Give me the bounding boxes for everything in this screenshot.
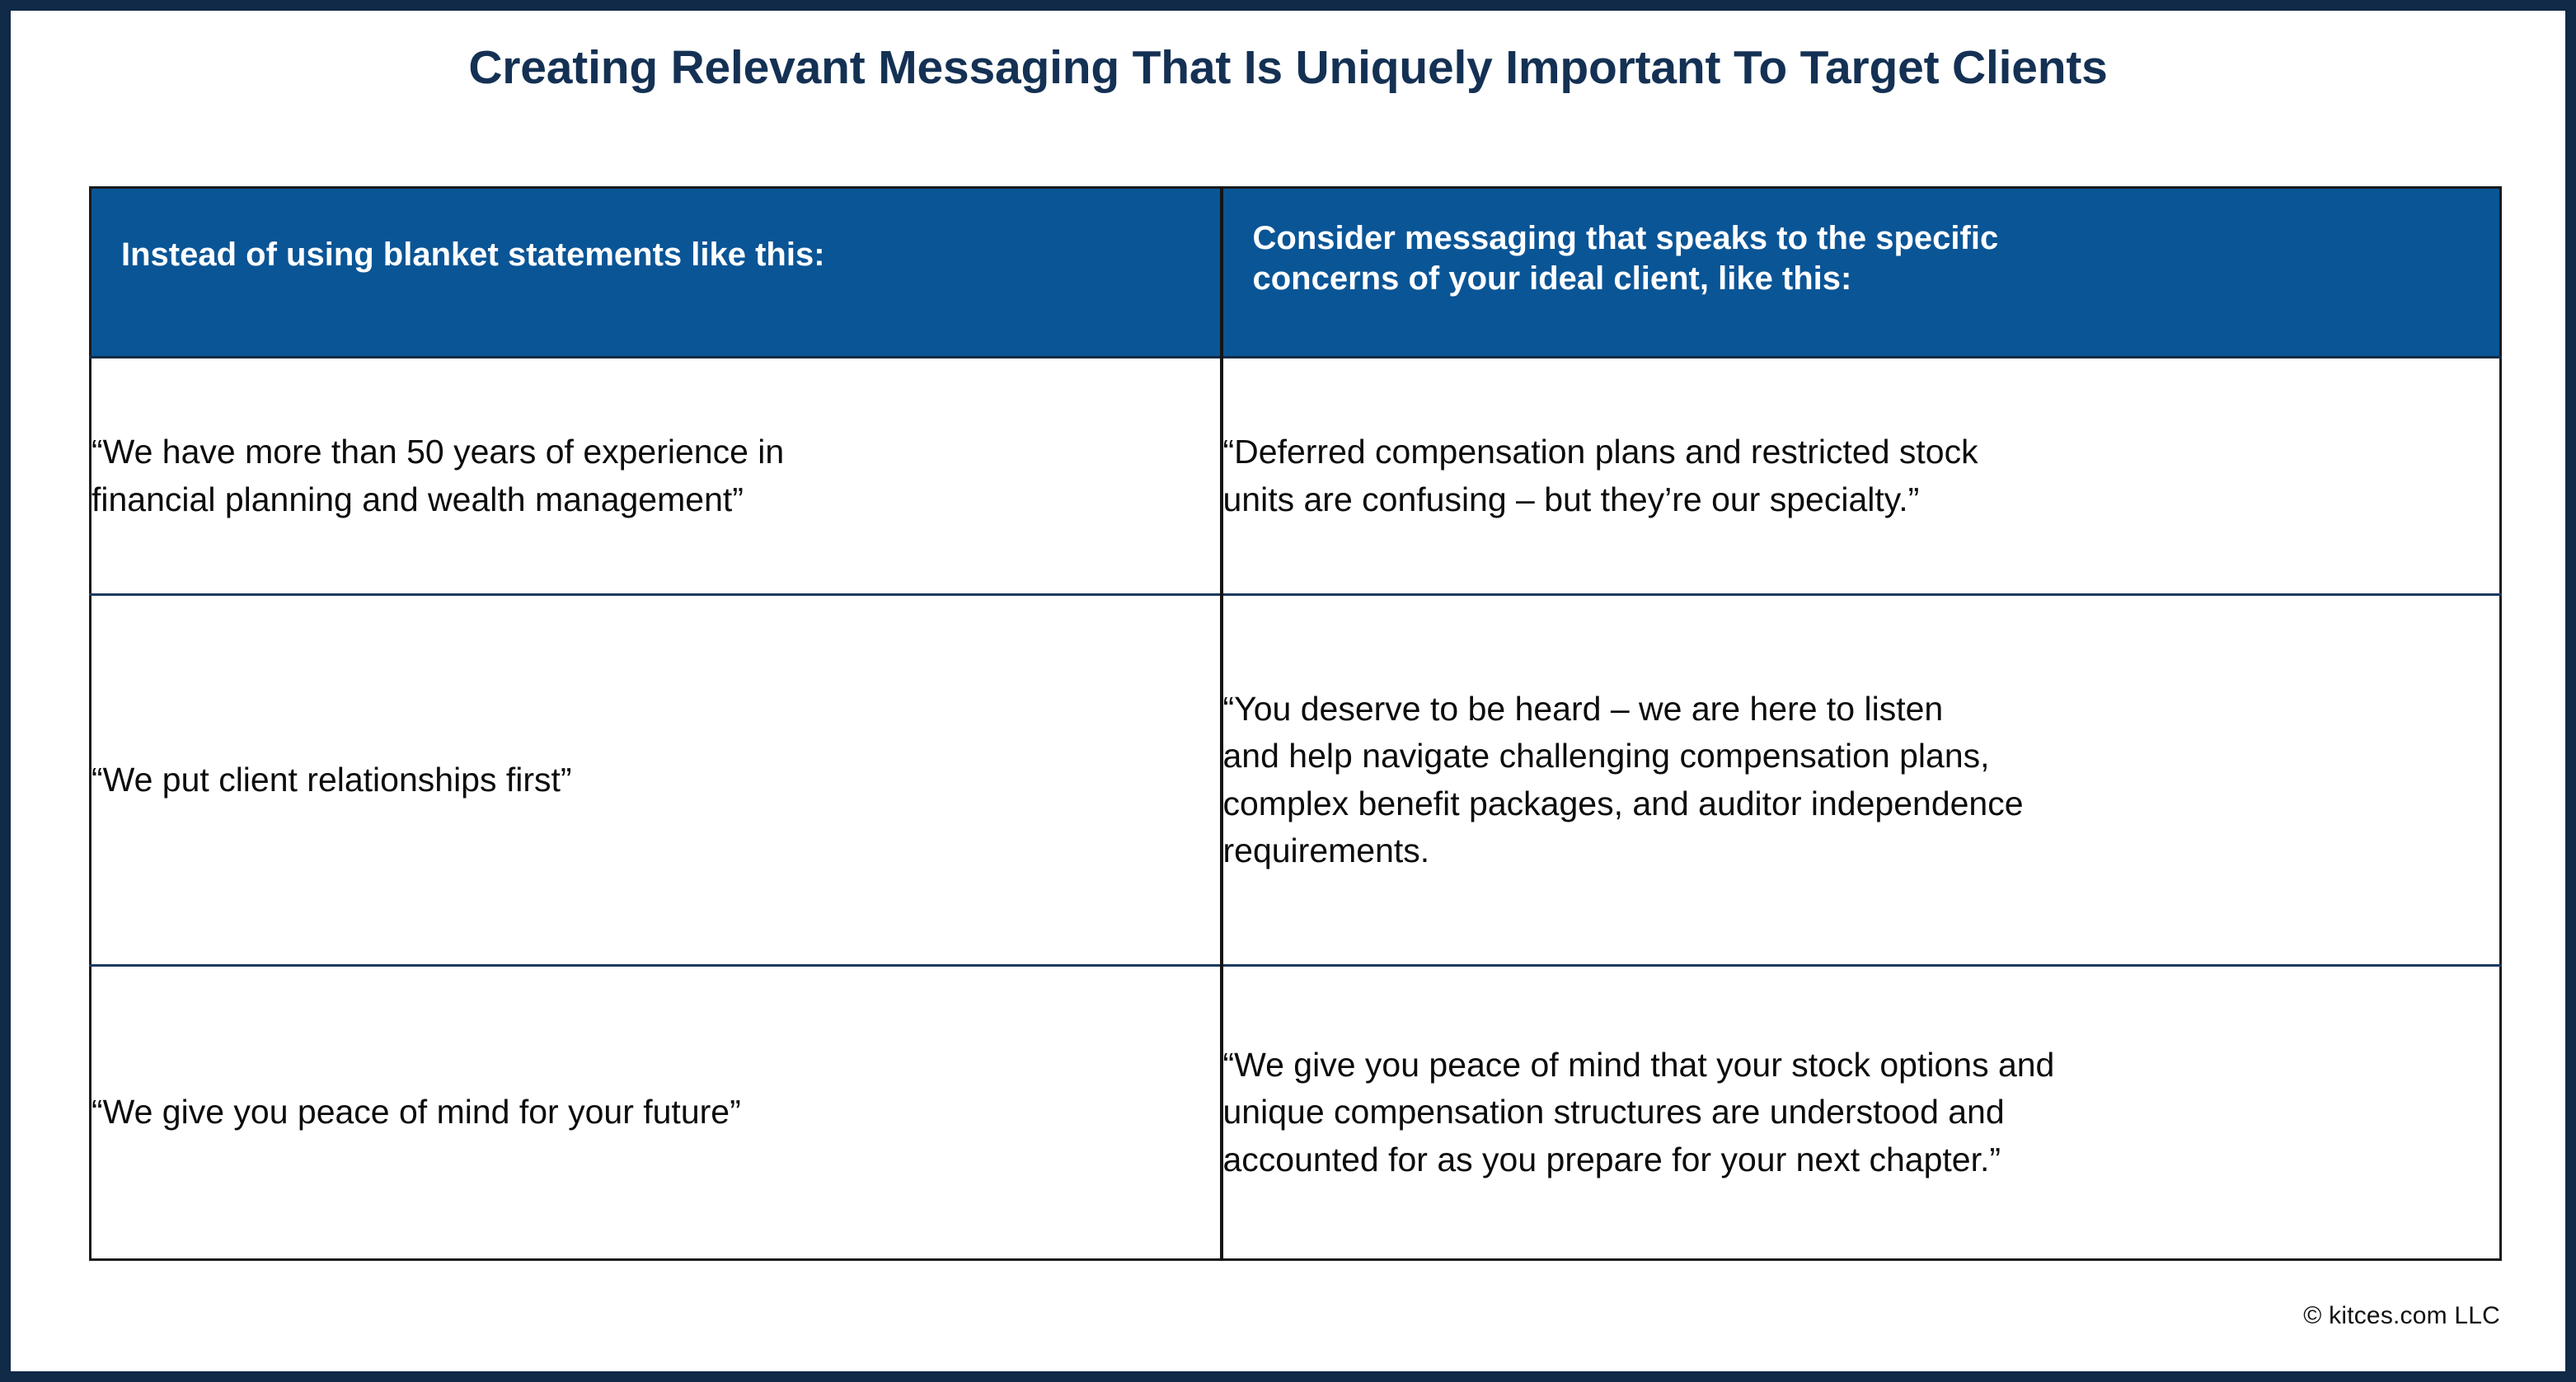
row-3-left-line-1: “We give you peace of mind for your futu… <box>91 1089 1220 1135</box>
table-body: “We have more than 50 years of experienc… <box>91 358 2501 1260</box>
column-header-consider: Consider messaging that speaks to the sp… <box>1222 188 2501 358</box>
column-header-consider-line-2: concerns of your ideal client, like this… <box>1253 259 2467 299</box>
table-header-row: Instead of using blanket statements like… <box>91 188 2501 358</box>
table-row: “We have more than 50 years of experienc… <box>91 358 2501 595</box>
row-1-right-line-2: units are confusing – but they’re our sp… <box>1223 477 2500 522</box>
column-header-instead: Instead of using blanket statements like… <box>91 188 1222 358</box>
row-1-right-line-1: “Deferred compensation plans and restric… <box>1223 429 2500 475</box>
row-1-left-line-2: financial planning and wealth management… <box>91 477 1220 522</box>
row-1-left-line-1: “We have more than 50 years of experienc… <box>91 429 1220 475</box>
row-2-right-line-1: “You deserve to be heard – we are here t… <box>1223 686 2500 732</box>
row-1-blanket-statement: “We have more than 50 years of experienc… <box>91 358 1222 595</box>
page-title: Creating Relevant Messaging That Is Uniq… <box>11 42 2565 94</box>
row-2-right-line-3: complex benefit packages, and auditor in… <box>1223 781 2500 827</box>
column-header-consider-label: Consider messaging that speaks to the sp… <box>1223 218 2500 327</box>
row-2-right-line-4: requirements. <box>1223 828 2500 874</box>
row-3-right-line-3: accounted for as you prepare for your ne… <box>1223 1137 2500 1183</box>
table-header: Instead of using blanket statements like… <box>91 188 2501 358</box>
row-3-specific-message: “We give you peace of mind that your sto… <box>1222 966 2501 1260</box>
row-2-specific-message: “You deserve to be heard – we are here t… <box>1222 595 2501 966</box>
slide-canvas: Creating Relevant Messaging That Is Uniq… <box>0 0 2576 1382</box>
messaging-comparison-table: Instead of using blanket statements like… <box>89 186 2502 1261</box>
row-3-right-line-2: unique compensation structures are under… <box>1223 1089 2500 1135</box>
column-header-instead-label: Instead of using blanket statements like… <box>91 235 1220 310</box>
row-2-left-line-1: “We put client relationships first” <box>91 757 1220 803</box>
column-header-consider-line-1: Consider messaging that speaks to the sp… <box>1253 218 2467 259</box>
row-3-right-line-1: “We give you peace of mind that your sto… <box>1223 1042 2500 1088</box>
row-2-right-line-2: and help navigate challenging compensati… <box>1223 733 2500 779</box>
table-row: “We give you peace of mind for your futu… <box>91 966 2501 1260</box>
row-3-blanket-statement: “We give you peace of mind for your futu… <box>91 966 1222 1260</box>
row-1-specific-message: “Deferred compensation plans and restric… <box>1222 358 2501 595</box>
copyright-credit: © kitces.com LLC <box>2303 1302 2500 1330</box>
table-row: “We put client relationships first” “You… <box>91 595 2501 966</box>
row-2-blanket-statement: “We put client relationships first” <box>91 595 1222 966</box>
slide-inner: Creating Relevant Messaging That Is Uniq… <box>11 11 2565 1371</box>
